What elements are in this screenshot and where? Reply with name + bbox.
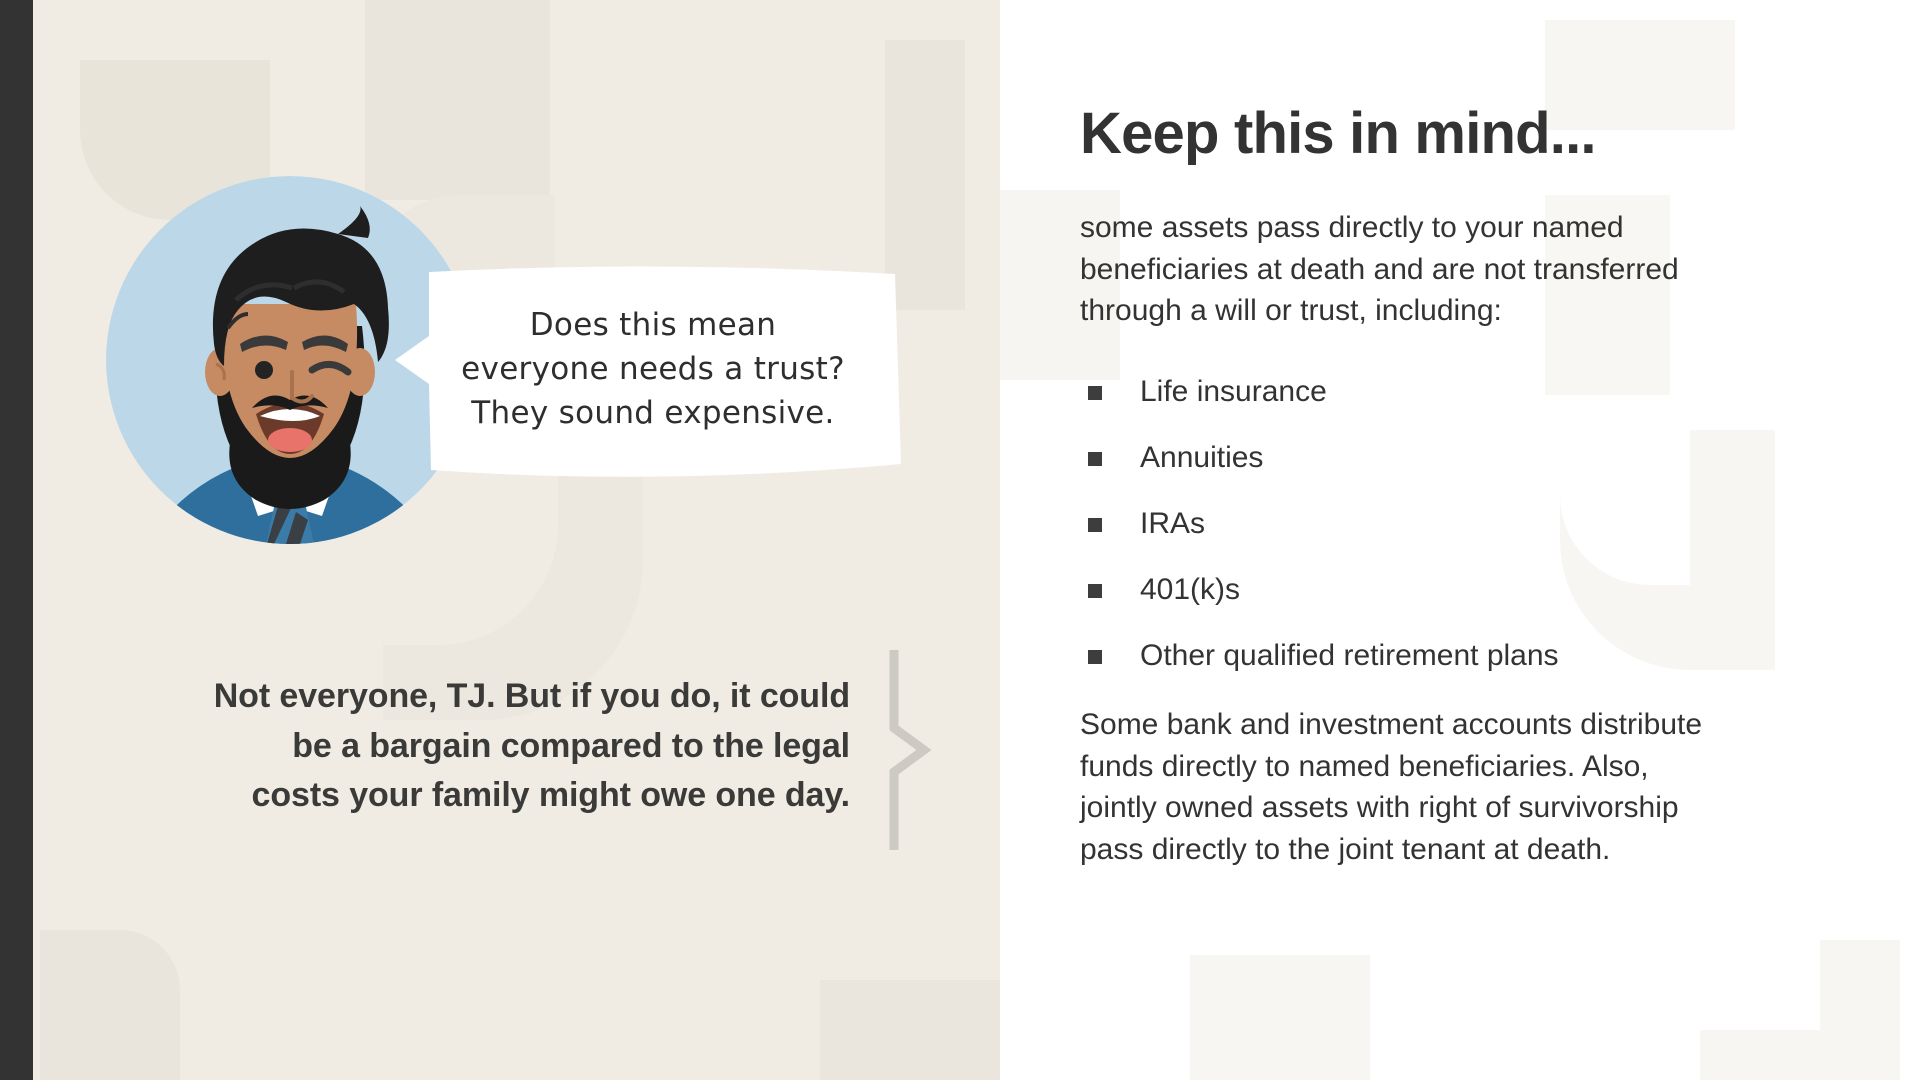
list-item: IRAs: [1088, 506, 1860, 542]
narration-line-1: Not everyone, TJ. But if you do, it coul…: [120, 672, 850, 722]
right-panel: Keep this in mind... some assets pass di…: [1000, 0, 1920, 1080]
lead-line-1: some assets pass directly to your named: [1080, 207, 1840, 249]
slide-root: Does this mean everyone needs a trust? T…: [0, 0, 1920, 1080]
bubble-line-2: everyone needs a trust?: [461, 347, 845, 391]
bubble-line-1: Does this mean: [530, 303, 776, 347]
closing-line-4: pass directly to the joint tenant at dea…: [1080, 829, 1860, 871]
speech-bubble-text: Does this mean everyone needs a trust? T…: [395, 264, 905, 480]
decorative-shape-9: [820, 980, 1000, 1080]
closing-paragraph: Some bank and investment accounts distri…: [1080, 704, 1860, 871]
lead-paragraph: some assets pass directly to your named …: [1080, 207, 1840, 332]
right-decorative-shape-8: [1700, 940, 1820, 1030]
narration-line-3: costs your family might owe one day.: [120, 771, 850, 821]
right-decorative-shape-6: [1190, 955, 1370, 1080]
closing-line-3: jointly owned assets with right of survi…: [1080, 787, 1860, 829]
chevron-right-divider-icon: [880, 650, 936, 850]
narration-line-2: be a bargain compared to the legal: [120, 722, 850, 772]
speech-bubble: Does this mean everyone needs a trust? T…: [395, 264, 905, 480]
lead-line-3: through a will or trust, including:: [1080, 290, 1840, 332]
decorative-shape-8: [40, 930, 180, 1080]
decorative-shape-2: [365, 0, 550, 200]
list-item: Other qualified retirement plans: [1088, 638, 1860, 674]
lead-line-2: beneficiaries at death and are not trans…: [1080, 249, 1840, 291]
left-panel: Does this mean everyone needs a trust? T…: [0, 0, 1000, 1080]
right-content: Keep this in mind... some assets pass di…: [1000, 0, 1920, 871]
bubble-line-3: They sound expensive.: [471, 391, 834, 435]
closing-line-1: Some bank and investment accounts distri…: [1080, 704, 1860, 746]
narration-text: Not everyone, TJ. But if you do, it coul…: [120, 672, 850, 821]
left-edge-bar: [0, 0, 33, 1080]
closing-line-2: funds directly to named beneficiaries. A…: [1080, 746, 1860, 788]
page-title: Keep this in mind...: [1080, 104, 1860, 165]
asset-bullet-list: Life insurance Annuities IRAs 401(k)s Ot…: [1088, 374, 1860, 674]
list-item: 401(k)s: [1088, 572, 1860, 608]
list-item: Life insurance: [1088, 374, 1860, 410]
list-item: Annuities: [1088, 440, 1860, 476]
